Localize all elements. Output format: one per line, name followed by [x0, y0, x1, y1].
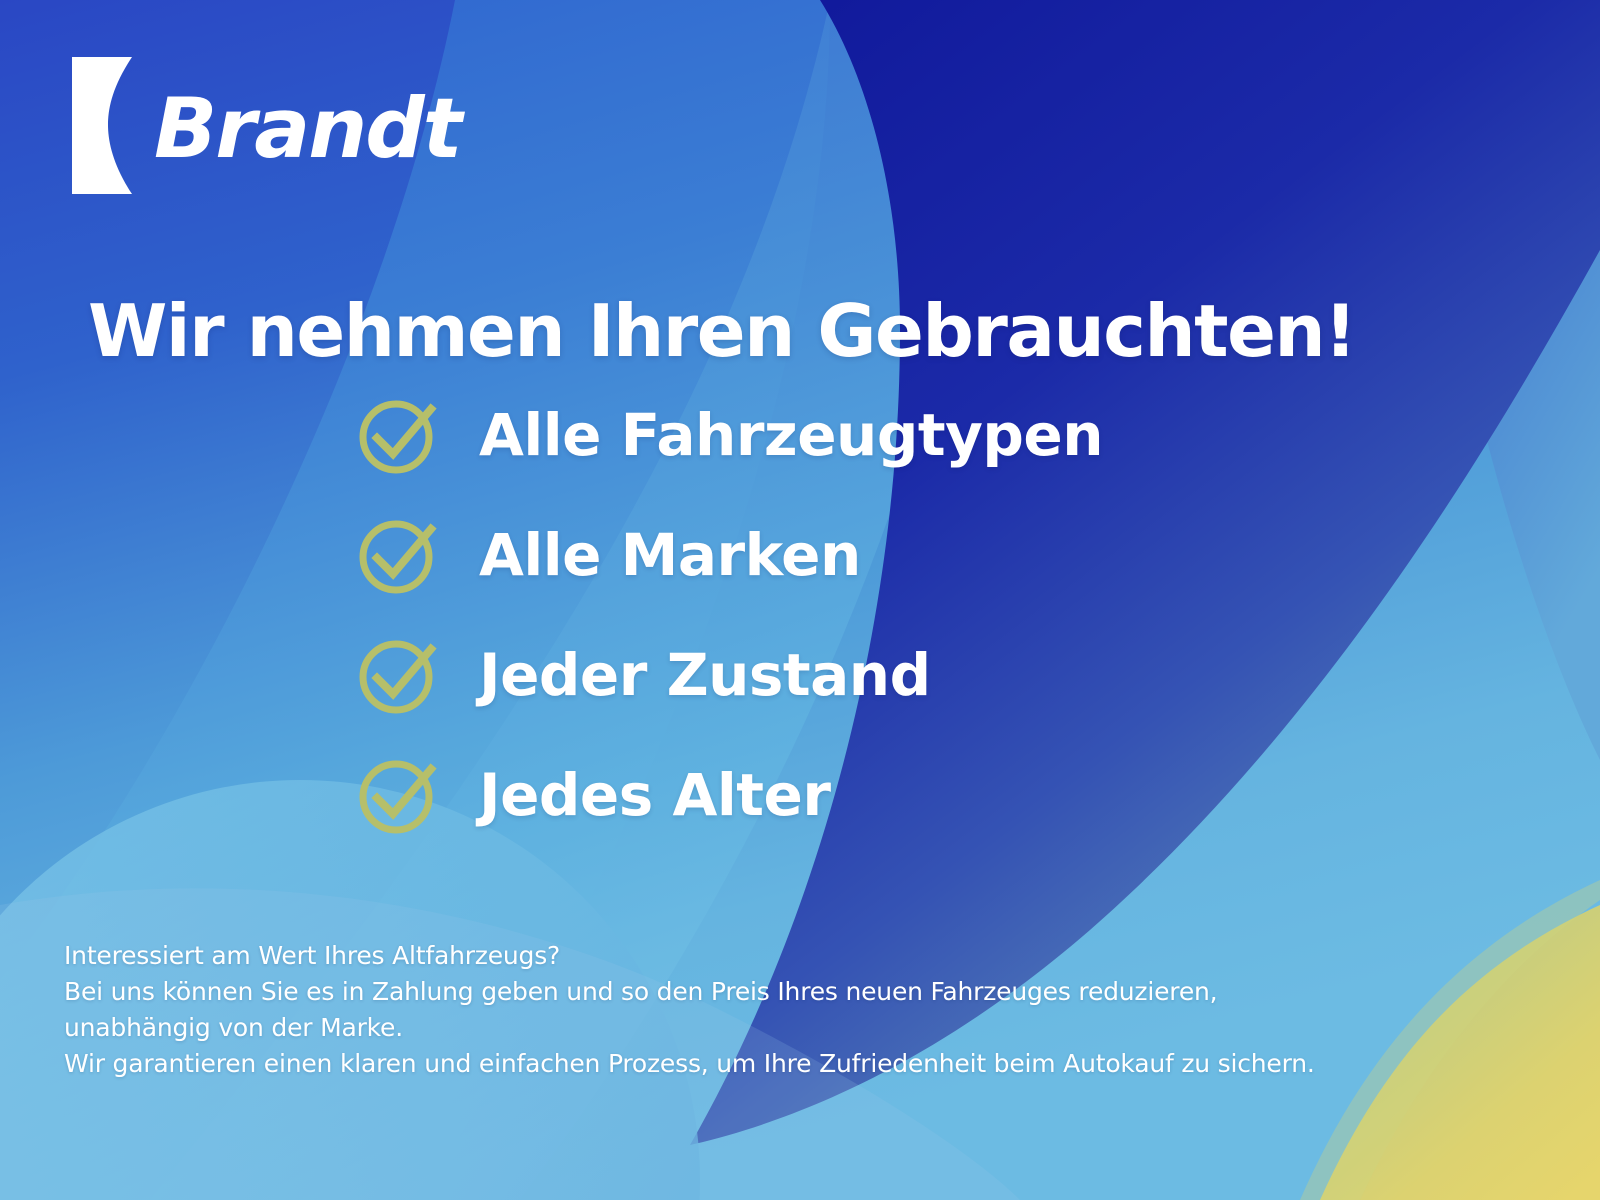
content-layer: Brandt Wir nehmen Ihren Gebrauchten! All…: [0, 0, 1600, 1200]
check-circle-icon: [355, 632, 441, 718]
brand-wordmark: Brandt: [154, 87, 460, 170]
description-paragraph: Interessiert am Wert Ihres Altfahrzeugs?…: [64, 938, 1484, 1082]
list-item-label: Jedes Alter: [479, 766, 830, 824]
list-item: Jedes Alter: [355, 752, 1103, 838]
list-item: Jeder Zustand: [355, 632, 1103, 718]
description-line: Interessiert am Wert Ihres Altfahrzeugs?: [64, 938, 1484, 974]
description-line: Bei uns können Sie es in Zahlung geben u…: [64, 974, 1484, 1010]
description-line: Wir garantieren einen klaren und einfach…: [64, 1046, 1484, 1082]
check-circle-icon: [355, 392, 441, 478]
description-line: unabhängig von der Marke.: [64, 1010, 1484, 1046]
check-circle-icon: [355, 512, 441, 598]
promo-banner: Brandt Wir nehmen Ihren Gebrauchten! All…: [0, 0, 1600, 1200]
list-item: Alle Fahrzeugtypen: [355, 392, 1103, 478]
check-circle-icon: [355, 752, 441, 838]
feature-list: Alle Fahrzeugtypen Alle Marken Jeder Zus…: [355, 392, 1103, 838]
page-title: Wir nehmen Ihren Gebrauchten!: [88, 291, 1356, 372]
list-item: Alle Marken: [355, 512, 1103, 598]
brand-logo: Brandt: [72, 55, 460, 195]
list-item-label: Jeder Zustand: [479, 646, 931, 704]
list-item-label: Alle Fahrzeugtypen: [479, 406, 1103, 464]
bracket-arc-mark-icon: [72, 57, 150, 194]
list-item-label: Alle Marken: [479, 526, 861, 584]
